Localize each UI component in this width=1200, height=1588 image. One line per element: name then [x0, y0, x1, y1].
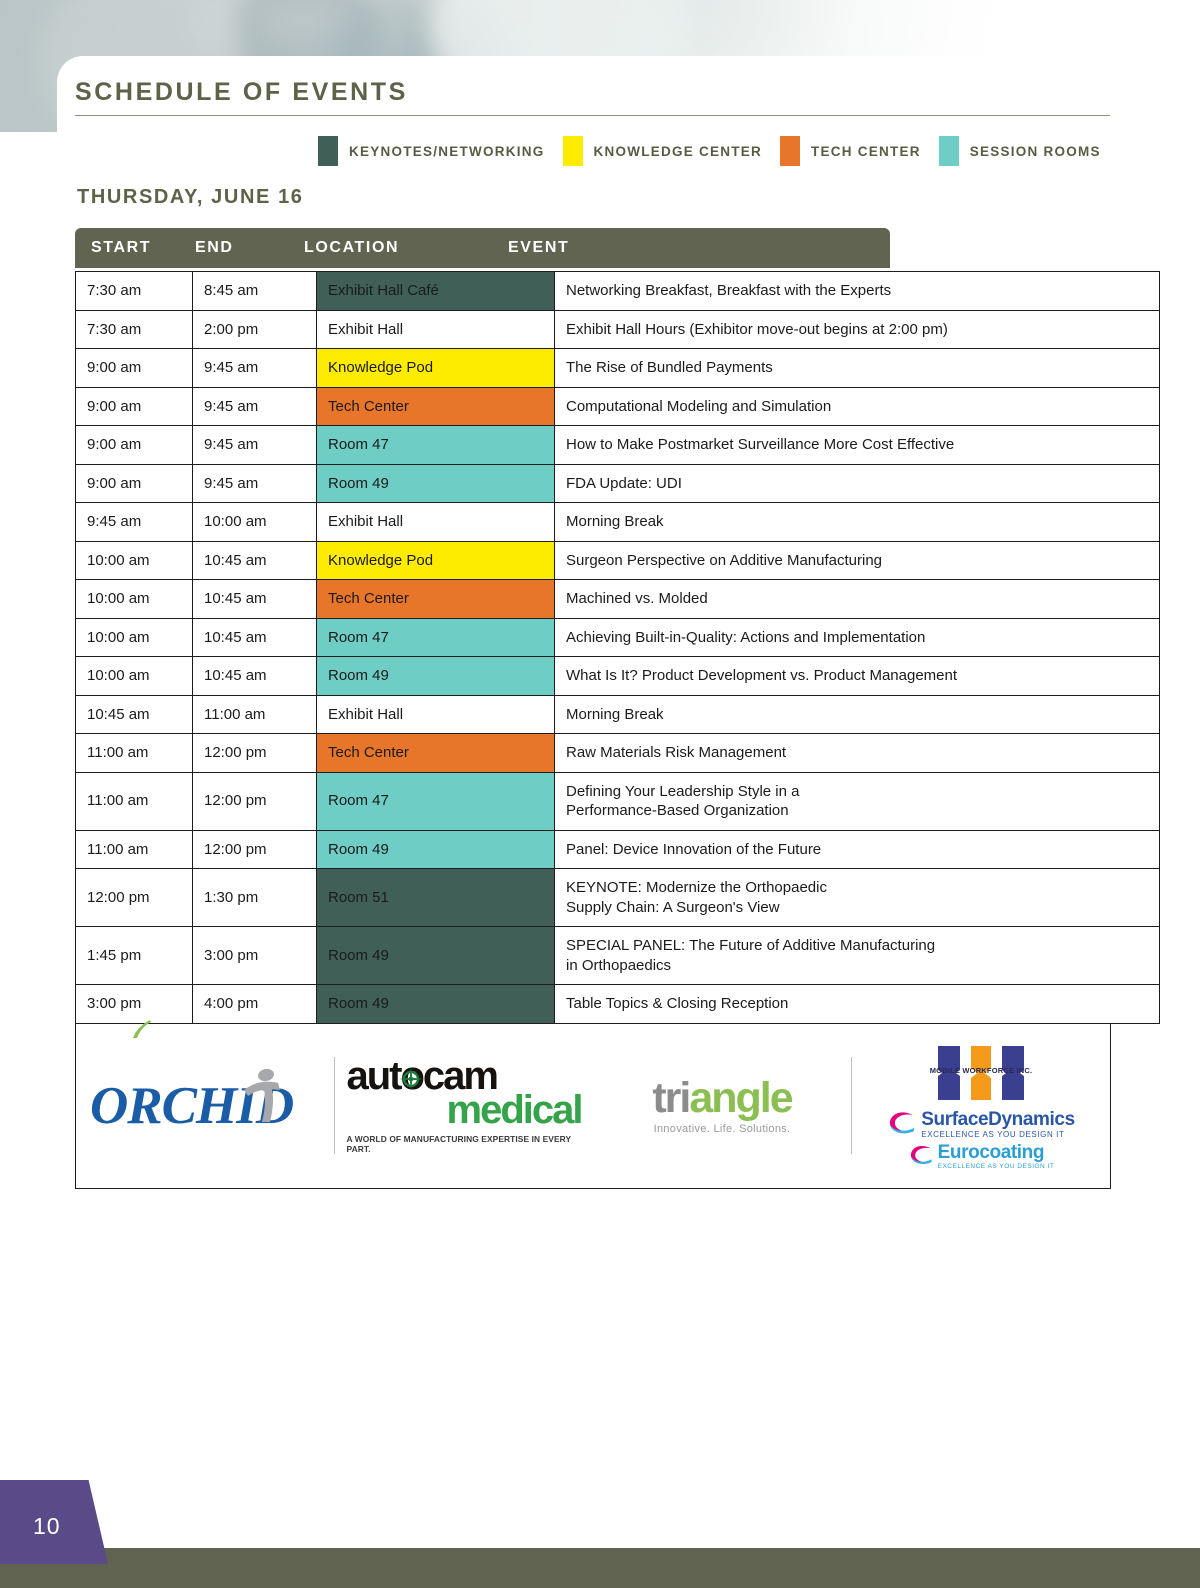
cell-start: 12:00 pm	[76, 869, 193, 927]
legend-swatch-knowledge	[563, 136, 583, 166]
cell-location: Room 49	[317, 927, 555, 985]
table-row: 9:00 am9:45 amKnowledge PodThe Rise of B…	[76, 349, 1160, 388]
table-row: 9:00 am9:45 amRoom 49FDA Update: UDI	[76, 464, 1160, 503]
cell-location: Room 47	[317, 772, 555, 830]
sponsor-triangle-tagline: Innovative. Life. Solutions.	[642, 1123, 802, 1135]
sponsor-mobile-workforce-group: MOBILE WORKFORCE INC. SurfaceDynamics EX…	[852, 1024, 1110, 1188]
cell-start: 9:00 am	[76, 426, 193, 465]
cell-end: 12:00 pm	[193, 772, 317, 830]
surfacedynamics-wordmark: SurfaceDynamics	[921, 1110, 1074, 1129]
cell-end: 10:00 am	[193, 503, 317, 542]
cell-event: The Rise of Bundled Payments	[555, 349, 1160, 388]
cell-event: Morning Break	[555, 695, 1160, 734]
cell-location: Knowledge Pod	[317, 349, 555, 388]
cell-end: 9:45 am	[193, 349, 317, 388]
table-row: 10:45 am11:00 amExhibit HallMorning Brea…	[76, 695, 1160, 734]
schedule-table: 7:30 am8:45 amExhibit Hall CaféNetworkin…	[75, 271, 1160, 1024]
cell-event: Raw Materials Risk Management	[555, 734, 1160, 773]
cell-location: Room 47	[317, 426, 555, 465]
title-divider	[75, 115, 1110, 116]
table-row: 10:00 am10:45 amKnowledge PodSurgeon Per…	[76, 541, 1160, 580]
table-row: 12:00 pm1:30 pmRoom 51KEYNOTE: Modernize…	[76, 869, 1160, 927]
legend-item-session: SESSION ROOMS	[939, 136, 1101, 166]
surfacedynamics-logo: SurfaceDynamics EXCELLENCE AS YOU DESIGN…	[887, 1110, 1074, 1139]
cell-location: Exhibit Hall	[317, 695, 555, 734]
table-row: 9:45 am10:00 amExhibit HallMorning Break	[76, 503, 1160, 542]
cell-start: 10:00 am	[76, 541, 193, 580]
cell-start: 10:00 am	[76, 618, 193, 657]
table-row: 3:00 pm4:00 pmRoom 49Table Topics & Clos…	[76, 985, 1160, 1024]
cell-start: 11:00 am	[76, 830, 193, 869]
column-header-start: START	[91, 239, 151, 257]
cell-location: Knowledge Pod	[317, 541, 555, 580]
legend-label-session: SESSION ROOMS	[970, 144, 1101, 159]
cell-event: SPECIAL PANEL: The Future of Additive Ma…	[555, 927, 1160, 985]
eurocoating-tagline: EXCELLENCE AS YOU DESIGN IT	[938, 1163, 1055, 1170]
sponsor-triangle-angle: angle	[689, 1077, 791, 1120]
legend-item-knowledge: KNOWLEDGE CENTER	[563, 136, 763, 166]
schedule-section: START END LOCATION EVENT 7:30 am8:45 amE…	[75, 228, 1111, 1189]
cell-start: 10:45 am	[76, 695, 193, 734]
table-header-bar: START END LOCATION EVENT	[75, 228, 890, 268]
cell-start: 10:00 am	[76, 657, 193, 696]
cell-location: Tech Center	[317, 734, 555, 773]
cell-end: 11:00 am	[193, 695, 317, 734]
footer-bar	[0, 1548, 1200, 1588]
cell-location: Exhibit Hall Café	[317, 272, 555, 311]
color-legend: KEYNOTES/NETWORKINGKNOWLEDGE CENTERTECH …	[318, 136, 1119, 166]
table-row: 11:00 am12:00 pmTech CenterRaw Materials…	[76, 734, 1160, 773]
autocam-target-icon	[399, 1067, 423, 1091]
cell-event: Machined vs. Molded	[555, 580, 1160, 619]
cell-end: 4:00 pm	[193, 985, 317, 1024]
cell-end: 10:45 am	[193, 657, 317, 696]
cell-event: Morning Break	[555, 503, 1160, 542]
orchid-figure-icon	[240, 1068, 284, 1124]
cell-event: FDA Update: UDI	[555, 464, 1160, 503]
table-row: 10:00 am10:45 amTech CenterMachined vs. …	[76, 580, 1160, 619]
sponsor-autocam-tagline: A WORLD OF MANUFACTURING EXPERTISE IN EV…	[347, 1134, 582, 1154]
legend-label-keynote: KEYNOTES/NETWORKING	[349, 144, 545, 159]
table-row: 11:00 am12:00 pmRoom 47Defining Your Lea…	[76, 772, 1160, 830]
cell-event: Networking Breakfast, Breakfast with the…	[555, 272, 1160, 311]
cell-location: Room 47	[317, 618, 555, 657]
cell-start: 9:45 am	[76, 503, 193, 542]
cell-event: Table Topics & Closing Reception	[555, 985, 1160, 1024]
eurocoating-wordmark: Eurocoating	[938, 1143, 1055, 1162]
cell-event: Panel: Device Innovation of the Future	[555, 830, 1160, 869]
table-row: 7:30 am8:45 amExhibit Hall CaféNetworkin…	[76, 272, 1160, 311]
page-number: 10	[33, 1513, 61, 1540]
cell-end: 8:45 am	[193, 272, 317, 311]
legend-swatch-keynote	[318, 136, 338, 166]
cell-start: 3:00 pm	[76, 985, 193, 1024]
cell-end: 1:30 pm	[193, 869, 317, 927]
cell-event: Surgeon Perspective on Additive Manufact…	[555, 541, 1160, 580]
table-row: 11:00 am12:00 pmRoom 49Panel: Device Inn…	[76, 830, 1160, 869]
surfacedynamics-swoosh-icon	[887, 1110, 921, 1138]
cell-location: Tech Center	[317, 387, 555, 426]
sponsor-autocam-wordmark: autocam	[347, 1057, 498, 1095]
table-row: 9:00 am9:45 amRoom 47How to Make Postmar…	[76, 426, 1160, 465]
legend-label-tech: TECH CENTER	[811, 144, 921, 159]
cell-start: 7:30 am	[76, 272, 193, 311]
legend-item-tech: TECH CENTER	[780, 136, 921, 166]
cell-end: 2:00 pm	[193, 310, 317, 349]
cell-event: Defining Your Leadership Style in aPerfo…	[555, 772, 1160, 830]
cell-end: 12:00 pm	[193, 734, 317, 773]
column-header-event: EVENT	[508, 239, 569, 257]
cell-end: 10:45 am	[193, 541, 317, 580]
eurocoating-logo: Eurocoating EXCELLENCE AS YOU DESIGN IT	[908, 1143, 1055, 1170]
cell-event: Computational Modeling and Simulation	[555, 387, 1160, 426]
cell-start: 9:00 am	[76, 349, 193, 388]
schedule-table-body: 7:30 am8:45 amExhibit Hall CaféNetworkin…	[76, 272, 1160, 1024]
cell-start: 11:00 am	[76, 734, 193, 773]
column-header-location: LOCATION	[304, 239, 399, 257]
mobile-workforce-logo: MOBILE WORKFORCE INC.	[920, 1042, 1042, 1104]
surfacedynamics-tagline: EXCELLENCE AS YOU DESIGN IT	[921, 1130, 1074, 1139]
cell-start: 9:00 am	[76, 387, 193, 426]
eurocoating-swoosh-icon	[908, 1144, 938, 1168]
cell-end: 12:00 pm	[193, 830, 317, 869]
cell-start: 9:00 am	[76, 464, 193, 503]
triangle-leaf-icon	[130, 1020, 152, 1040]
cell-event: KEYNOTE: Modernize the OrthopaedicSupply…	[555, 869, 1160, 927]
cell-event: How to Make Postmarket Surveillance More…	[555, 426, 1160, 465]
cell-end: 9:45 am	[193, 426, 317, 465]
cell-location: Exhibit Hall	[317, 503, 555, 542]
cell-start: 7:30 am	[76, 310, 193, 349]
legend-label-knowledge: KNOWLEDGE CENTER	[594, 144, 763, 159]
cell-end: 9:45 am	[193, 464, 317, 503]
table-row: 7:30 am2:00 pmExhibit HallExhibit Hall H…	[76, 310, 1160, 349]
sponsor-triangle-tri: tri	[652, 1077, 689, 1120]
cell-start: 10:00 am	[76, 580, 193, 619]
cell-location: Tech Center	[317, 580, 555, 619]
cell-location: Exhibit Hall	[317, 310, 555, 349]
sponsor-autocam-medical: autocam medical A WORLD OF MANUFACTURING…	[335, 1024, 593, 1188]
cell-event: Achieving Built-in-Quality: Actions and …	[555, 618, 1160, 657]
mobile-workforce-wordmark: MOBILE WORKFORCE INC.	[920, 1066, 1042, 1075]
cell-start: 1:45 pm	[76, 927, 193, 985]
page-title: SCHEDULE OF EVENTS	[75, 78, 408, 107]
cell-start: 11:00 am	[76, 772, 193, 830]
legend-swatch-tech	[780, 136, 800, 166]
cell-location: Room 49	[317, 985, 555, 1024]
cell-end: 10:45 am	[193, 618, 317, 657]
table-row: 10:00 am10:45 amRoom 47Achieving Built-i…	[76, 618, 1160, 657]
table-row: 1:45 pm3:00 pmRoom 49SPECIAL PANEL: The …	[76, 927, 1160, 985]
day-heading: THURSDAY, JUNE 16	[77, 186, 304, 209]
sponsor-logo-strip: ORCHID autocam	[75, 1024, 1111, 1189]
cell-event: Exhibit Hall Hours (Exhibitor move-out b…	[555, 310, 1160, 349]
legend-item-keynote: KEYNOTES/NETWORKING	[318, 136, 545, 166]
table-row: 9:00 am9:45 amTech CenterComputational M…	[76, 387, 1160, 426]
cell-location: Room 49	[317, 657, 555, 696]
cell-end: 10:45 am	[193, 580, 317, 619]
table-row: 10:00 am10:45 amRoom 49What Is It? Produ…	[76, 657, 1160, 696]
cell-event: What Is It? Product Development vs. Prod…	[555, 657, 1160, 696]
cell-end: 3:00 pm	[193, 927, 317, 985]
column-header-end: END	[195, 239, 234, 257]
cell-location: Room 51	[317, 869, 555, 927]
cell-location: Room 49	[317, 830, 555, 869]
sponsor-orchid: ORCHID	[76, 1024, 334, 1188]
legend-swatch-session	[939, 136, 959, 166]
sponsor-triangle: triangle Innovative. Life. Solutions.	[593, 1024, 851, 1188]
cell-location: Room 49	[317, 464, 555, 503]
cell-end: 9:45 am	[193, 387, 317, 426]
